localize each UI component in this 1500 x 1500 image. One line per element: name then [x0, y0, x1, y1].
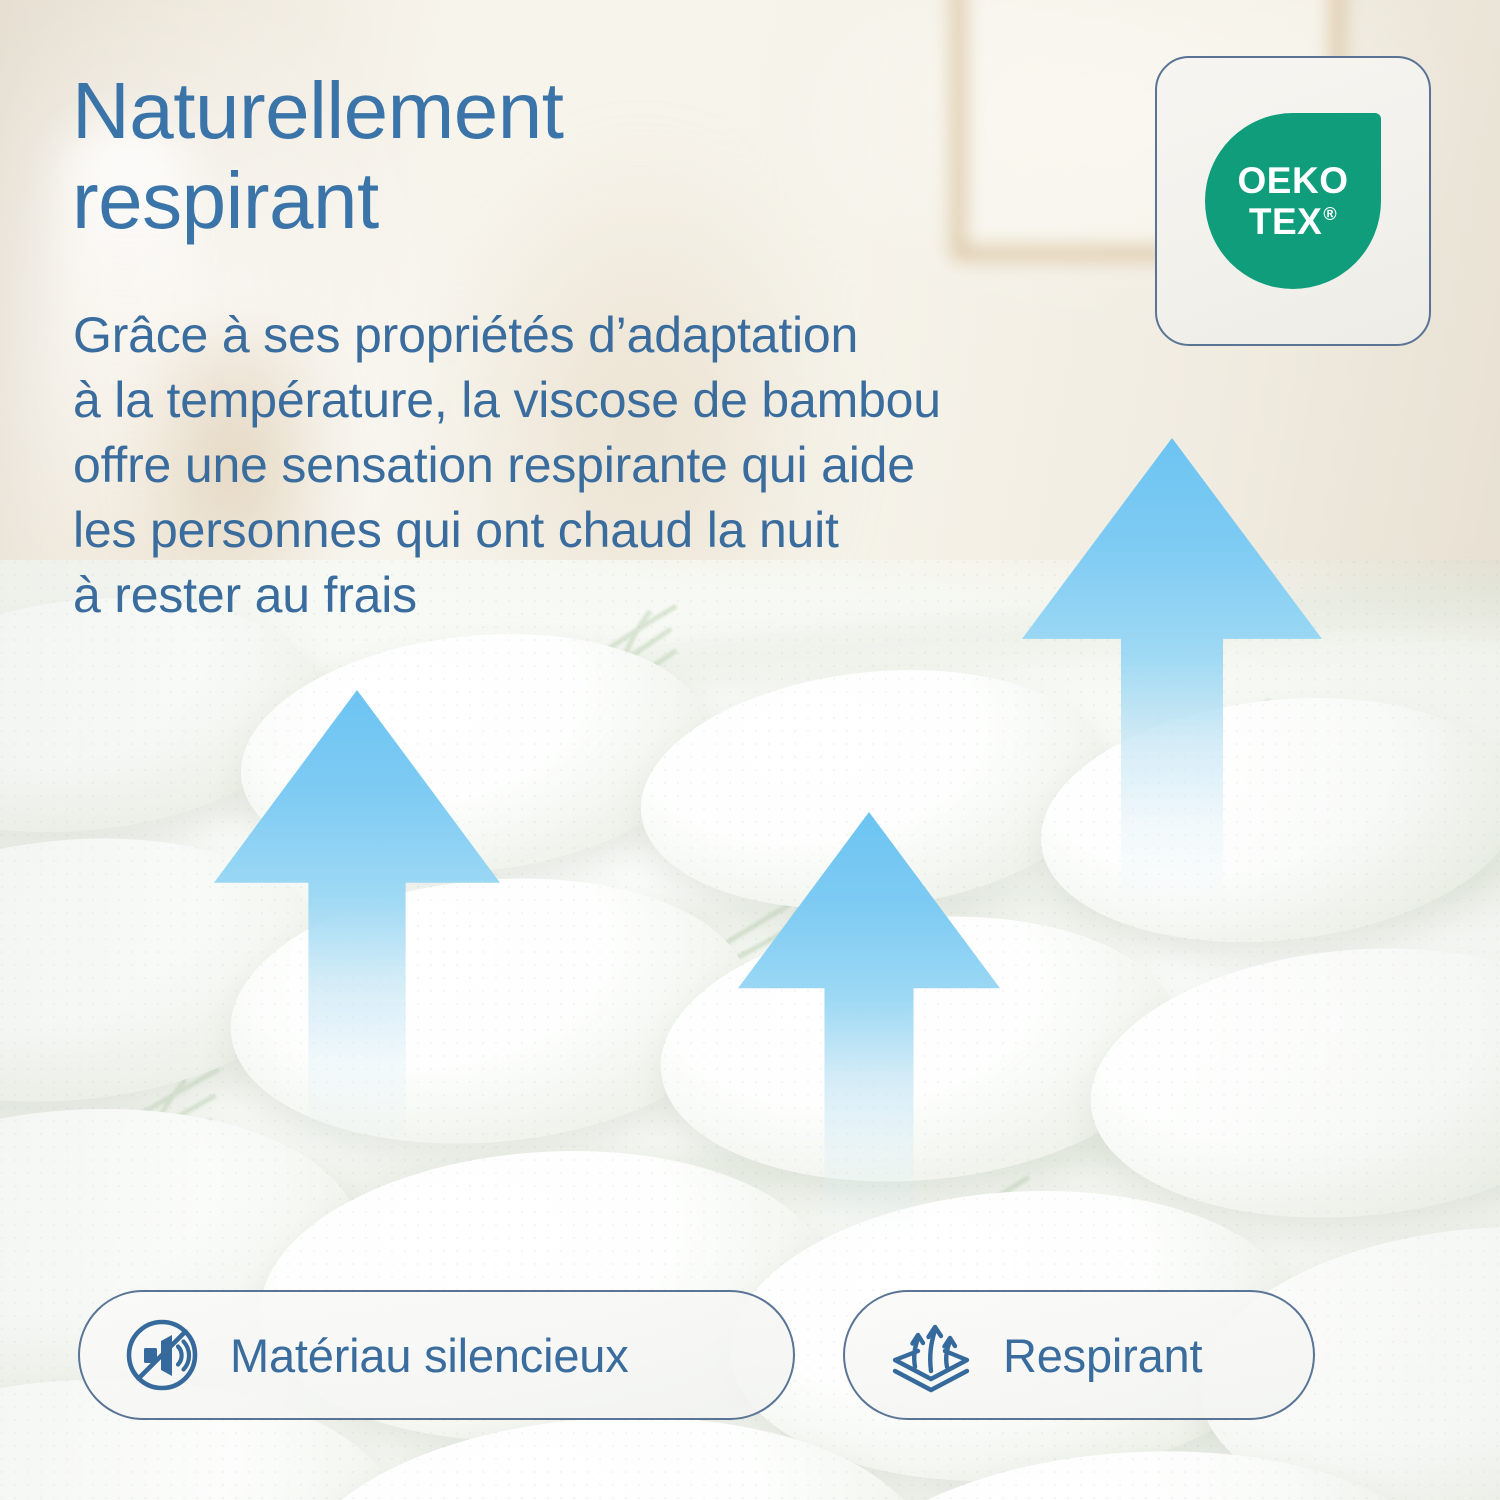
description-line: à rester au frais: [73, 563, 1133, 628]
mute-speaker-icon: [120, 1313, 204, 1397]
feature-pill-label: Matériau silencieux: [230, 1328, 629, 1383]
oeko-tex-line2: TEX: [1249, 203, 1322, 240]
feature-pill-silent-material[interactable]: Matériau silencieux: [78, 1290, 795, 1420]
oeko-tex-droplet-icon: OEKO TEX ®: [1205, 113, 1381, 289]
oeko-tex-line2-wrap: TEX ®: [1249, 203, 1337, 240]
feature-pill-label: Respirant: [1003, 1328, 1202, 1383]
description-line: offre une sensation respirante qui aide: [73, 433, 1133, 498]
registered-trademark-symbol: ®: [1323, 205, 1337, 223]
description-line: les personnes qui ont chaud la nuit: [73, 498, 1133, 563]
description-text: Grâce à ses propriétés d’adaptation à la…: [73, 303, 1133, 628]
product-feature-banner: Naturellement respirant Grâce à ses prop…: [0, 0, 1500, 1500]
oeko-tex-line1: OEKO: [1238, 162, 1349, 199]
page-title: Naturellement respirant: [72, 66, 832, 245]
description-line: à la température, la viscose de bambou: [73, 368, 1133, 433]
oeko-tex-badge: OEKO TEX ®: [1155, 56, 1431, 346]
description-line: Grâce à ses propriétés d’adaptation: [73, 303, 1133, 368]
feature-pill-breathable[interactable]: Respirant: [843, 1290, 1315, 1420]
breathable-layers-icon: [885, 1313, 977, 1397]
